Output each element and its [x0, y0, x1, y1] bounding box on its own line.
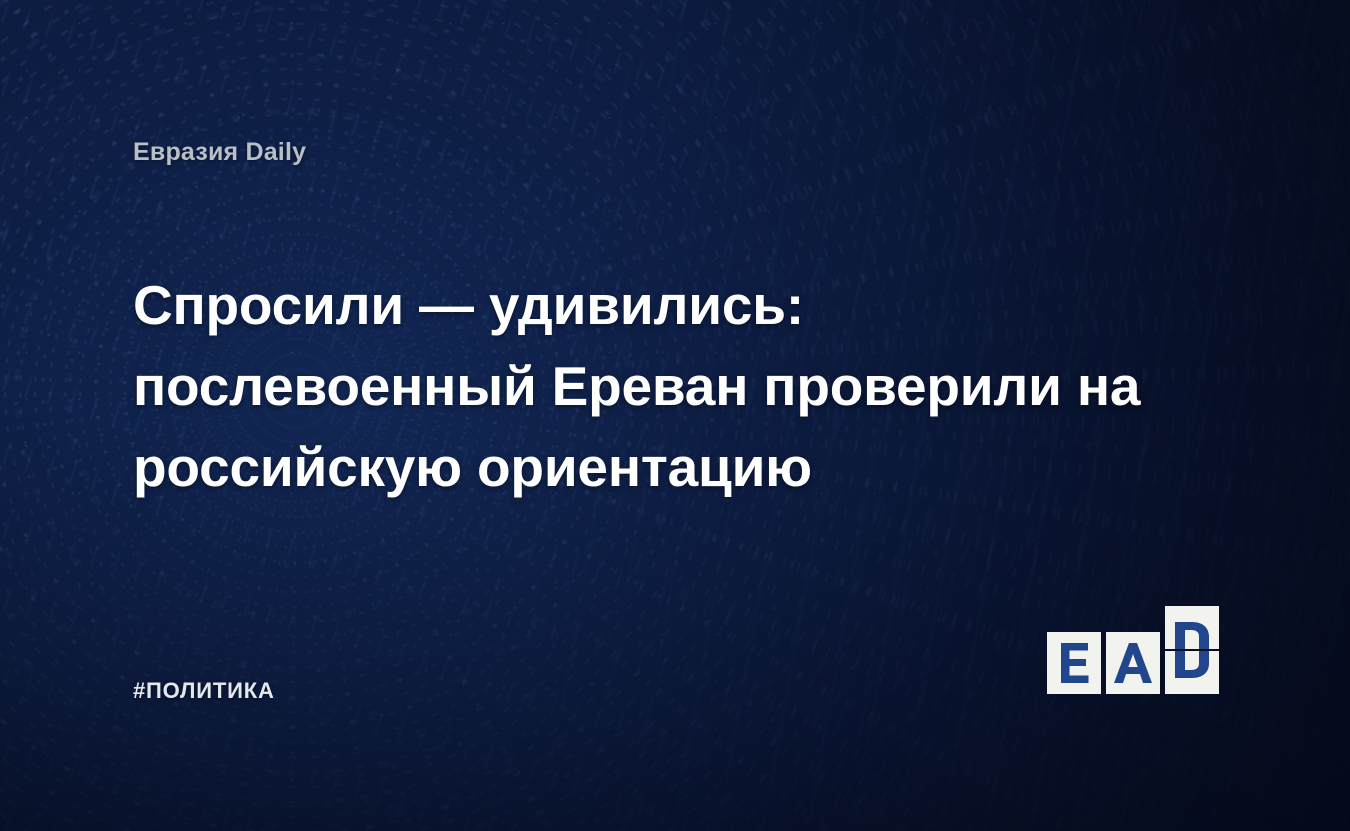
brand-name: Евразия Daily	[133, 138, 306, 167]
logo-tile-e	[1047, 632, 1101, 694]
eadaily-logo[interactable]	[1047, 632, 1223, 694]
logo-tile-a	[1106, 632, 1160, 694]
rubric-tag-politics: #ПОЛИТИКА	[133, 678, 275, 704]
article-cover-card: Евразия Daily Спросили — удивились: посл…	[0, 0, 1350, 831]
logo-tile-d-upper	[1165, 606, 1219, 649]
cover-content: Евразия Daily Спросили — удивились: посл…	[0, 0, 1350, 831]
page-title: Спросили — удивились: послевоенный Ерева…	[133, 265, 1193, 508]
logo-tile-d-split	[1165, 606, 1219, 694]
logo-tile-d-lower	[1165, 651, 1219, 694]
